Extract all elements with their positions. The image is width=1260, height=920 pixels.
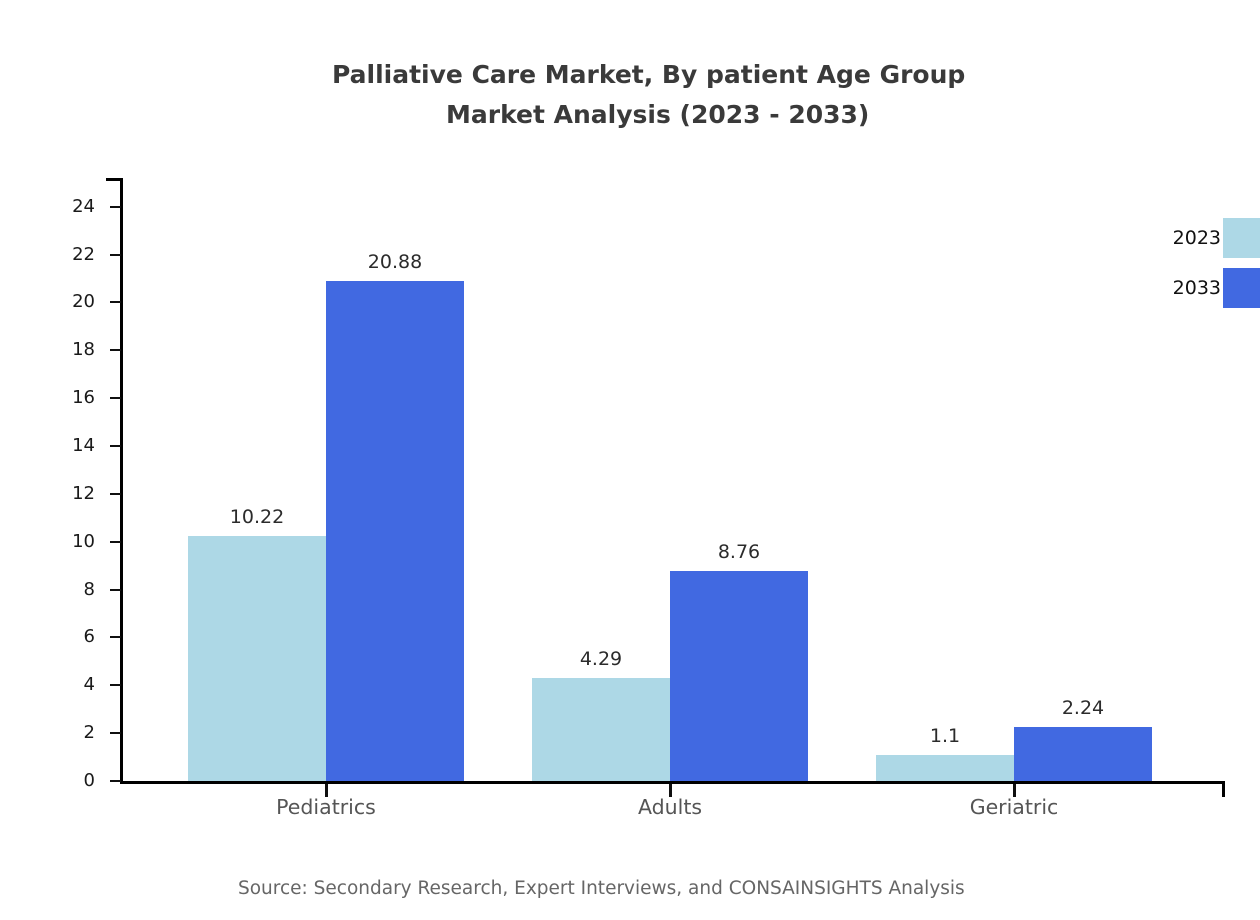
bar-adults-2023[interactable] xyxy=(532,678,670,781)
y-tick-label: 8 xyxy=(35,581,95,599)
y-tick-label: 14 xyxy=(35,437,95,455)
y-tick-label: 18 xyxy=(35,341,95,359)
bar-adults-2033[interactable] xyxy=(670,571,808,781)
y-tick-label: 16 xyxy=(35,389,95,407)
bar-value-label: 2.24 xyxy=(1062,697,1104,719)
bar-pediatrics-2033[interactable] xyxy=(326,281,464,781)
y-tick-mark xyxy=(110,254,121,256)
y-axis-line xyxy=(120,178,123,784)
bar-value-label: 10.22 xyxy=(230,506,284,528)
y-tick-mark xyxy=(110,445,121,447)
x-tick-label-adults: Adults xyxy=(638,795,702,819)
source-note: Source: Secondary Research, Expert Inter… xyxy=(238,878,1260,899)
chart-title-line-2: Market Analysis (2023 - 2033) xyxy=(446,95,869,135)
y-tick-label: 22 xyxy=(35,246,95,264)
y-tick-label: 2 xyxy=(35,724,95,742)
y-tick-mark xyxy=(110,636,121,638)
bar-pediatrics-2023[interactable] xyxy=(188,536,326,781)
y-tick-mark xyxy=(110,301,121,303)
y-tick-label: 4 xyxy=(35,676,95,694)
y-tick-label: 12 xyxy=(35,485,95,503)
legend-item-2033[interactable]: 2033 xyxy=(1223,267,1260,309)
y-tick-mark xyxy=(110,206,121,208)
y-tick-mark xyxy=(110,541,121,543)
bar-value-label: 4.29 xyxy=(580,648,622,670)
y-tick-mark xyxy=(110,780,121,782)
legend-label-2023: 2023 xyxy=(1173,217,1221,259)
y-tick-mark xyxy=(110,589,121,591)
x-tick-label-pediatrics: Pediatrics xyxy=(276,795,376,819)
bar-geriatric-2023[interactable] xyxy=(876,755,1014,781)
bar-value-label: 20.88 xyxy=(368,251,422,273)
y-axis-top-cap xyxy=(106,178,123,181)
y-tick-label: 10 xyxy=(35,533,95,551)
bar-value-label: 1.1 xyxy=(930,725,960,747)
y-tick-mark xyxy=(110,684,121,686)
bar-value-label: 8.76 xyxy=(718,541,760,563)
legend-label-2033: 2033 xyxy=(1173,267,1221,309)
x-axis-line xyxy=(120,781,1225,784)
x-axis-right-cap xyxy=(1222,781,1225,797)
y-tick-mark xyxy=(110,732,121,734)
legend-swatch-2023 xyxy=(1223,218,1260,258)
y-tick-label: 24 xyxy=(35,198,95,216)
y-tick-mark xyxy=(110,397,121,399)
legend-item-2023[interactable]: 2023 xyxy=(1223,217,1260,259)
y-tick-label: 6 xyxy=(35,628,95,646)
y-tick-label: 0 xyxy=(35,772,95,790)
legend-swatch-2033 xyxy=(1223,268,1260,308)
bar-geriatric-2033[interactable] xyxy=(1014,727,1152,781)
y-tick-mark xyxy=(110,349,121,351)
x-tick-label-geriatric: Geriatric xyxy=(970,795,1059,819)
y-tick-label: 20 xyxy=(35,293,95,311)
chart-title-line-1: Palliative Care Market, By patient Age G… xyxy=(332,55,965,95)
chart-canvas: Palliative Care Market, By patient Age G… xyxy=(0,0,1260,920)
y-tick-mark xyxy=(110,493,121,495)
